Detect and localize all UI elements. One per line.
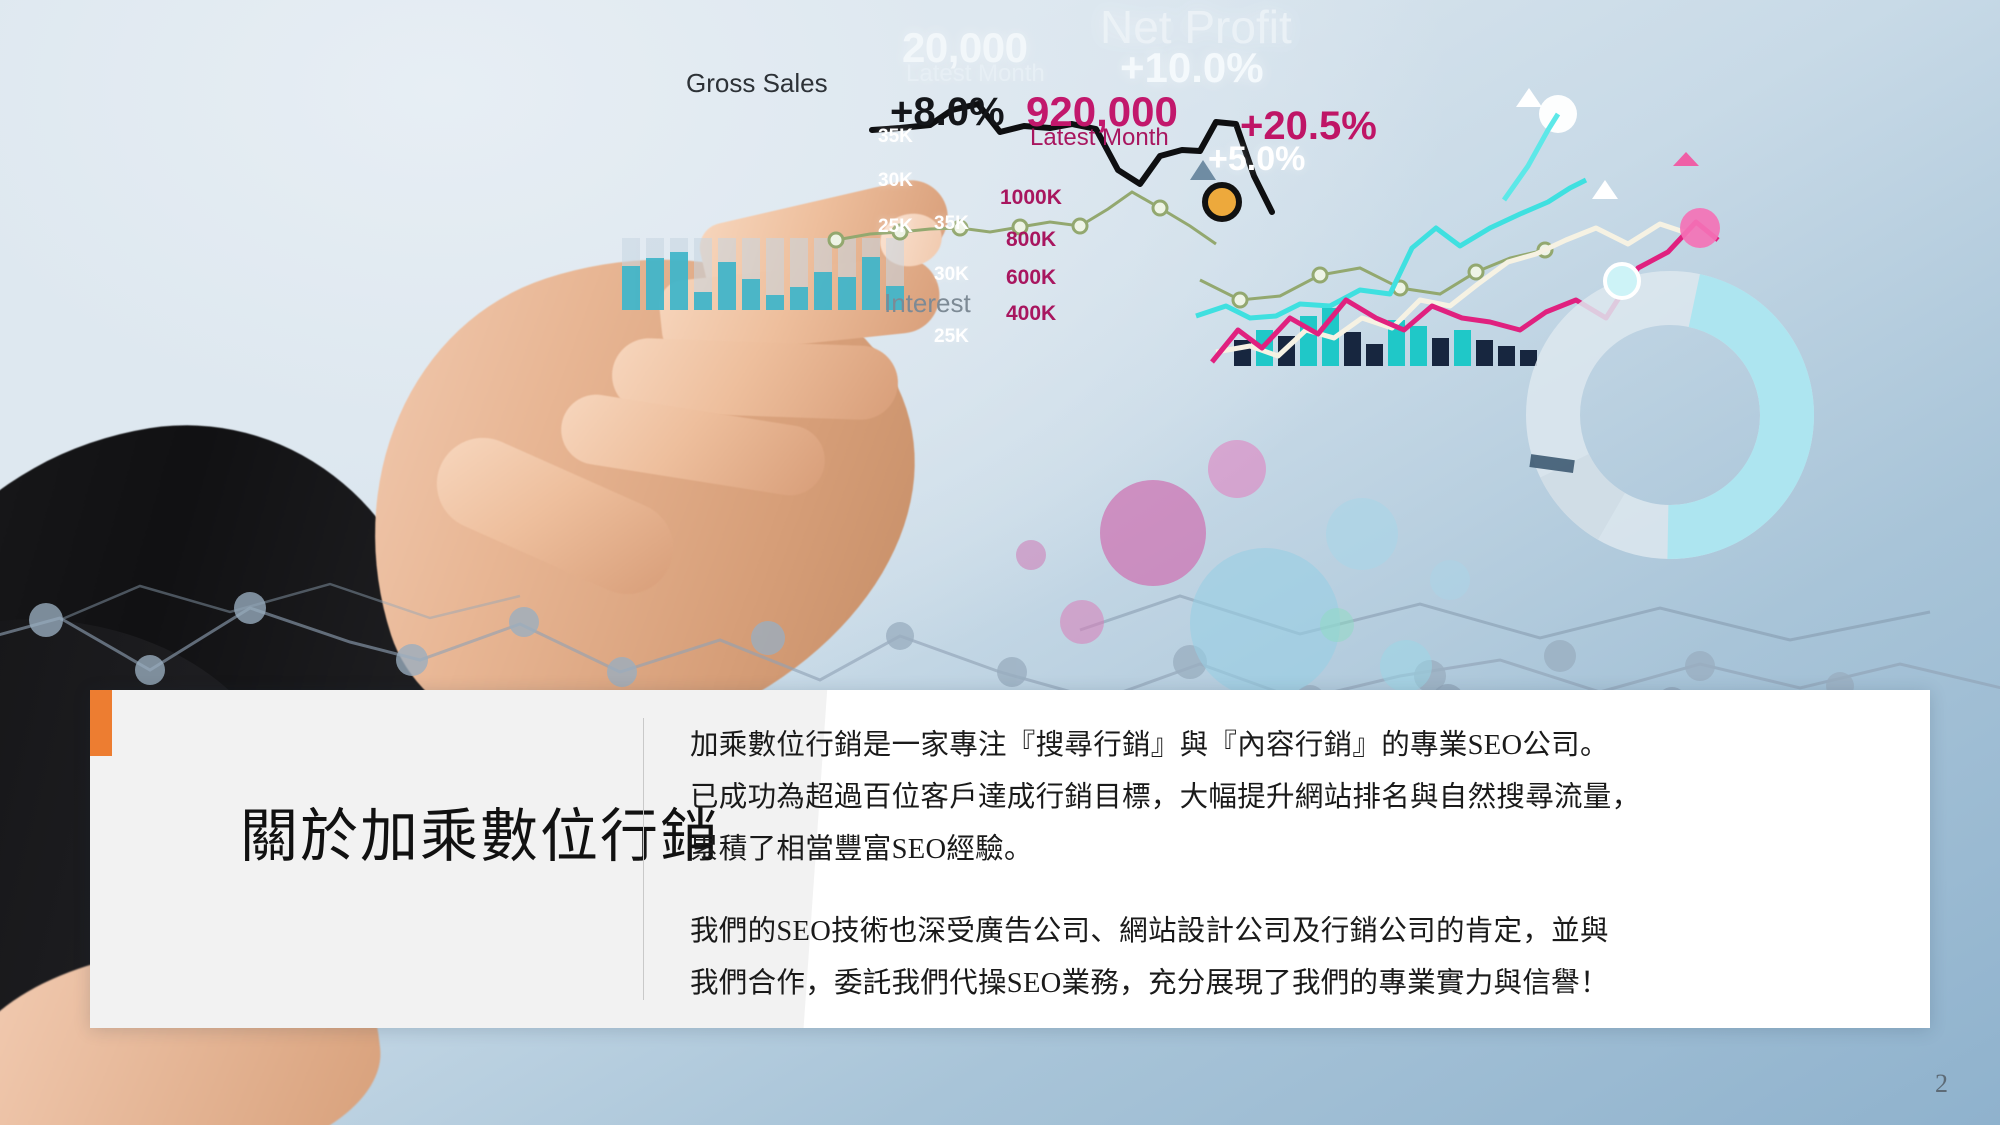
vertical-divider — [643, 718, 644, 1000]
page-title: 關於加乘數位行銷 — [240, 808, 720, 866]
paragraph2-line1: 我們的SEO技術也深受廣告公司、網站設計公司及行銷公司的肯定，並與 — [690, 906, 1890, 958]
slide-canvas: Gross Sales Interest Net Profit 20,000 L… — [0, 0, 2000, 1125]
trend-up-triangle-white-2 — [1592, 180, 1618, 199]
axis-tick-upper-2: 30K — [878, 170, 913, 192]
interest-label: Interest — [884, 288, 971, 319]
pct-secondary: +5.0% — [1208, 140, 1305, 179]
trend-up-triangle-white-1 — [1516, 88, 1542, 107]
margin-marker — [1680, 208, 1720, 248]
paragraph1-line2: 已成功為超過百位客戶達成行銷目標，大幅提升網站排名與自然搜尋流量， — [690, 772, 1890, 824]
axis-tick-mag-2: 800K — [1006, 228, 1056, 252]
axis-tick-lower-1: 35K — [934, 213, 969, 235]
body-text-block: 加乘數位行銷是一家專注『搜尋行銷』與『內容行銷』的專業SEO公司。 已成功為超過… — [690, 720, 1890, 1010]
axis-tick-lower-2: 30K — [934, 264, 969, 286]
gross-sales-label: Gross Sales — [686, 68, 828, 99]
paragraph2-line2: 我們合作，委託我們代操SEO業務，充分展現了我們的專業實力與信譽！ — [690, 958, 1890, 1010]
page-number: 2 — [1935, 1069, 1948, 1099]
axis-tick-mag-3: 600K — [1006, 266, 1056, 290]
trend-up-triangle-pink — [1673, 152, 1699, 166]
content-card: 關於加乘數位行銷 加乘數位行銷是一家專注『搜尋行銷』與『內容行銷』的專業SEO公… — [90, 690, 1930, 1028]
bar-chart-left — [622, 238, 904, 310]
axis-tick-lower-3: 25K — [934, 326, 969, 348]
kpi-caption-1: Latest Month — [906, 60, 1045, 88]
axis-tick-upper-3: 25K — [878, 216, 913, 238]
axis-tick-upper-1: 35K — [878, 126, 913, 148]
donut-chart — [1510, 255, 1830, 575]
axis-tick-mag-4: 400K — [1006, 302, 1056, 326]
accent-bar — [90, 690, 112, 756]
kpi-caption-2: Latest Month — [1030, 124, 1169, 152]
pct-net-profit: +10.0% — [1120, 44, 1264, 92]
paragraph1-line1: 加乘數位行銷是一家專注『搜尋行銷』與『內容行銷』的專業SEO公司。 — [690, 720, 1890, 772]
axis-tick-mag-1: 1000K — [1000, 186, 1062, 210]
gross-sales-marker — [1205, 185, 1239, 219]
paragraph1-line3: 累積了相當豐富SEO經驗。 — [690, 824, 1890, 876]
donut-marker — [1605, 264, 1639, 298]
